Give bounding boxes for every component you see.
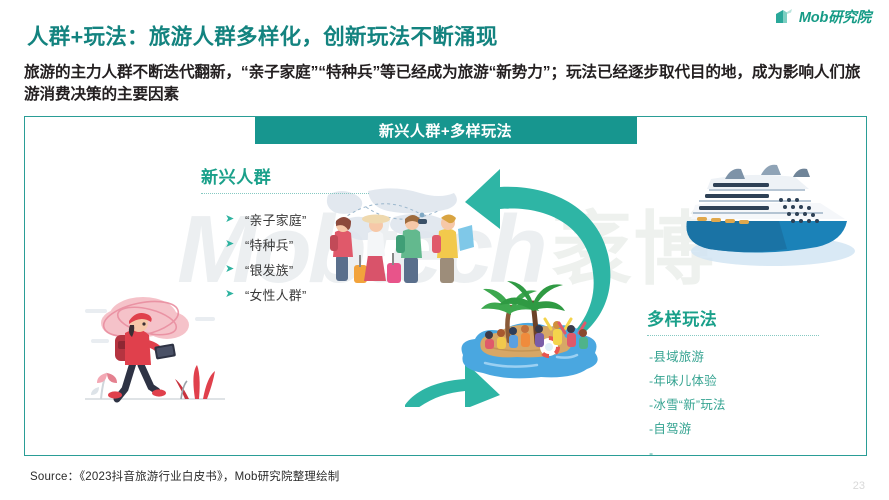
emerging-groups-list: ➤ “亲子家庭” ➤ “特种兵” ➤ “银发族” ➤ “女性人群” xyxy=(225,207,307,307)
left-heading-rule xyxy=(201,193,369,194)
mob-logo-mark-icon xyxy=(774,8,794,26)
arrow-bullet-icon: ➤ xyxy=(225,289,235,300)
list-item-label: “女性人群” xyxy=(245,285,307,304)
page-number: 23 xyxy=(853,480,865,492)
list-item: -自驾游 xyxy=(649,417,726,441)
brand-logo: Mob研究院 xyxy=(774,6,871,27)
right-column-heading: 多样玩法 xyxy=(647,305,819,336)
arrow-bullet-icon: ➤ xyxy=(225,239,235,250)
list-item: ➤ “特种兵” xyxy=(225,232,307,257)
source-note: Source：《2023抖音旅游行业白皮书》，Mob研究院整理绘制 xyxy=(30,468,340,484)
list-item-label: “银发族” xyxy=(245,260,293,279)
backpacker-illustration xyxy=(77,287,247,427)
arrow-bullet-icon: ➤ xyxy=(225,214,235,225)
list-item: ➤ “女性人群” xyxy=(225,282,307,307)
arrow-bullet-icon: ➤ xyxy=(225,264,235,275)
logo-text: Mob研究院 xyxy=(799,6,871,27)
content-panel: 新兴人群+多样玩法 Mobtech 袤博 xyxy=(24,116,867,456)
list-item: -年味儿体验 xyxy=(649,369,726,393)
list-item: ➤ “银发族” xyxy=(225,257,307,282)
list-item: ➤ “亲子家庭” xyxy=(225,207,307,232)
list-item: -县域旅游 xyxy=(649,345,726,369)
list-item-label: “特种兵” xyxy=(245,235,293,254)
left-column-heading: 新兴人群 xyxy=(201,163,369,194)
right-heading-text: 多样玩法 xyxy=(647,305,819,330)
list-item-label: “亲子家庭” xyxy=(245,210,307,229)
right-heading-rule xyxy=(647,335,819,336)
page-title: 人群+玩法：旅游人群多样化，创新玩法不断涌现 xyxy=(27,20,498,51)
page-subtitle: 旅游的主力人群不断迭代翻新，“亲子家庭”“特种兵”等已经成为旅游“新势力”；玩法… xyxy=(24,62,869,106)
slide-root: Mob研究院 人群+玩法：旅游人群多样化，创新玩法不断涌现 旅游的主力人群不断迭… xyxy=(0,0,889,500)
cruise-ship-illustration xyxy=(673,159,863,282)
list-item: -… xyxy=(649,441,726,456)
diverse-playstyles-list: -县域旅游 -年味儿体验 -冰雪“新”玩法 -自驾游 -… xyxy=(649,345,726,456)
list-item: -冰雪“新”玩法 xyxy=(649,393,726,417)
left-heading-text: 新兴人群 xyxy=(201,163,369,188)
tropical-island-illustration xyxy=(445,267,620,392)
panel-banner: 新兴人群+多样玩法 xyxy=(255,117,637,144)
